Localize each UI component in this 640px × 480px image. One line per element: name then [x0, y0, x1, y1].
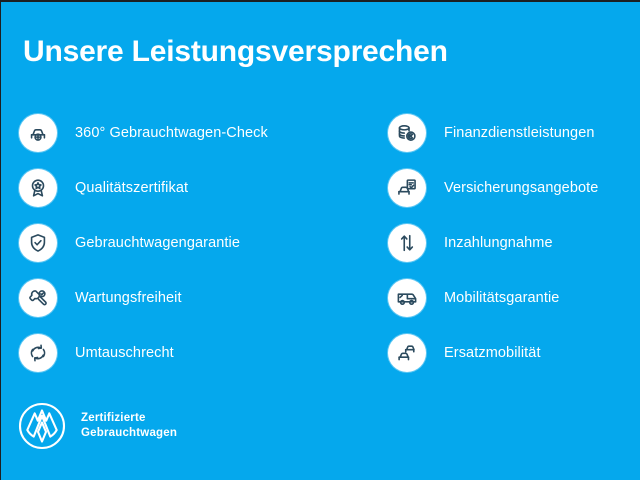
list-item-label: Gebrauchtwagengarantie: [75, 235, 240, 251]
list-item[interactable]: Wartungsfreiheit: [19, 279, 359, 317]
list-item[interactable]: Mobilitätsgarantie: [388, 279, 638, 317]
list-item[interactable]: Gebrauchtwagengarantie: [19, 224, 359, 262]
brand-footer-line2: Gebrauchtwagen: [81, 427, 177, 439]
coins-euro-icon: [388, 114, 426, 152]
list-item-label: 360° Gebrauchtwagen-Check: [75, 125, 268, 141]
quality-seal-icon: [19, 169, 57, 207]
list-item[interactable]: Ersatzmobilität: [388, 334, 638, 372]
promises-slide: Unsere Leistungsversprechen 360° Gebrauc…: [0, 0, 640, 480]
promises-column-right: Finanzdienstleistungen Versicherungsange…: [388, 114, 638, 389]
list-item-label: Ersatzmobilität: [444, 345, 541, 361]
list-item-label: Umtauschrecht: [75, 345, 174, 361]
brand-footer: Zertifizierte Gebrauchtwagen: [17, 401, 177, 451]
list-item[interactable]: Versicherungsangebote: [388, 169, 638, 207]
list-item[interactable]: 360° Gebrauchtwagen-Check: [19, 114, 359, 152]
brand-footer-text: Zertifizierte Gebrauchtwagen: [81, 411, 177, 441]
list-item[interactable]: Qualitätszertifikat: [19, 169, 359, 207]
list-item[interactable]: Inzahlungnahme: [388, 224, 638, 262]
car-document-icon: [388, 169, 426, 207]
page-title: Unsere Leistungsversprechen: [23, 35, 448, 69]
list-item-label: Mobilitätsgarantie: [444, 290, 559, 306]
shield-check-icon: [19, 224, 57, 262]
up-down-arrows-icon: [388, 224, 426, 262]
wrench-maintenance-icon: [19, 279, 57, 317]
list-item-label: Qualitätszertifikat: [75, 180, 188, 196]
volkswagen-logo: [17, 401, 67, 451]
list-item-label: Inzahlungnahme: [444, 235, 553, 251]
brand-footer-line1: Zertifizierte: [81, 412, 146, 424]
list-item[interactable]: Finanzdienstleistungen: [388, 114, 638, 152]
two-cars-icon: [388, 334, 426, 372]
promises-column-left: 360° Gebrauchtwagen-Check Qualitätszerti…: [19, 114, 359, 389]
list-item-label: Finanzdienstleistungen: [444, 125, 595, 141]
exchange-arrows-icon: [19, 334, 57, 372]
van-icon: [388, 279, 426, 317]
car-inspection-icon: [19, 114, 57, 152]
list-item-label: Versicherungsangebote: [444, 180, 598, 196]
list-item[interactable]: Umtauschrecht: [19, 334, 359, 372]
list-item-label: Wartungsfreiheit: [75, 290, 182, 306]
